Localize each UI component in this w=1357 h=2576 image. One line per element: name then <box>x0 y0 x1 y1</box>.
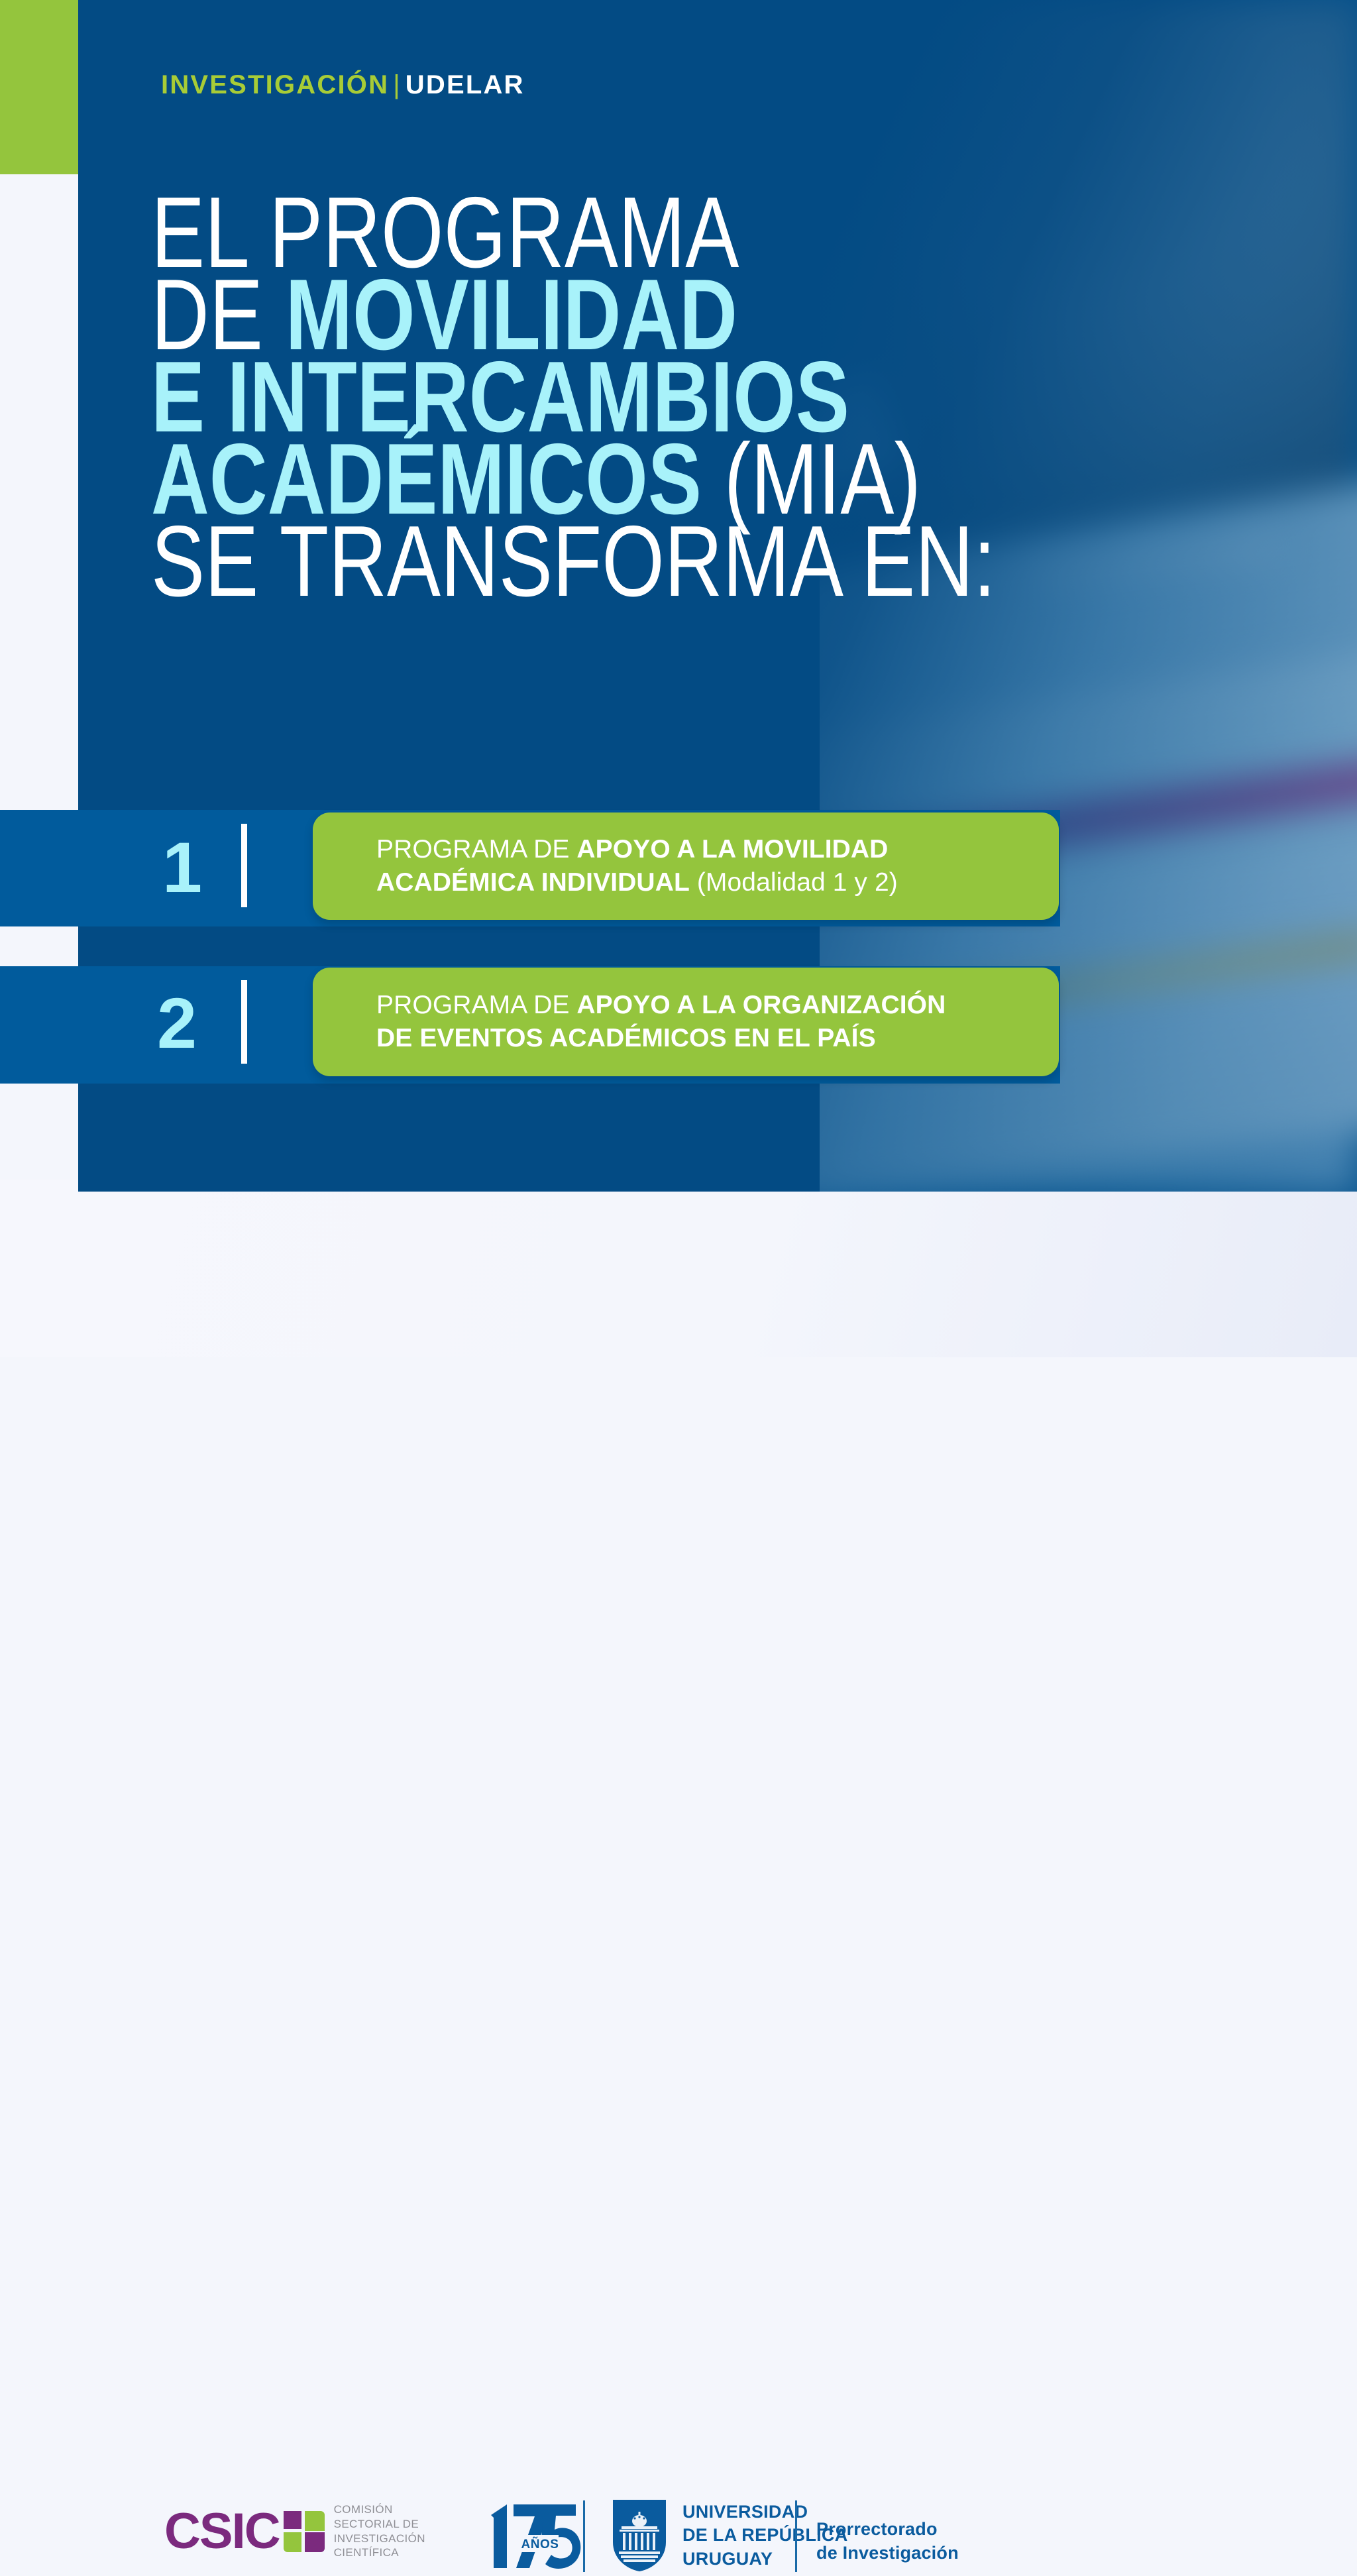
eyebrow-separator: | <box>389 70 406 99</box>
csic-subtitle-line-2: SECTORIAL DE <box>334 2518 419 2530</box>
eyebrow-secondary: UDELAR <box>406 70 525 99</box>
footer-divider-2 <box>795 2500 797 2572</box>
udelar-logo: UNIVERSIDAD DE LA REPÚBLICA URUGUAY <box>611 2498 848 2573</box>
item2-label-bold-b: DE EVENTOS ACADÉMICOS EN EL PAÍS <box>376 1024 876 1052</box>
prorrectorado-label: Prorrectorado de Investigación <box>816 2517 959 2565</box>
item1-label-paren: (Modalidad 1 y 2) <box>690 868 898 897</box>
footer-logos: CSIC COMISIÓN SECTORIAL DE INVESTIGACIÓN… <box>0 1246 1357 1345</box>
headline-line-3: E INTERCAMBIOS <box>151 351 1185 433</box>
item-divider-2 <box>241 980 247 1064</box>
item-number-1: 1 <box>162 832 202 903</box>
csic-subtitle-line-4: CIENTÍFICA <box>334 2546 399 2559</box>
item-number-2: 2 <box>157 987 197 1059</box>
headline-line-1: EL PROGRAMA <box>151 187 1185 269</box>
item-pill-1-text: PROGRAMA DE APOYO A LA MOVILIDAD ACADÉMI… <box>313 833 898 899</box>
item1-label-light: PROGRAMA DE <box>376 835 576 864</box>
item-divider-1 <box>241 824 247 907</box>
item2-label-bold-a: APOYO A LA ORGANIZACIÓN <box>576 991 946 1019</box>
prorrectorado-line-2: de Investigación <box>816 2543 959 2563</box>
headline-line5-text: SE TRANSFORMA EN: <box>151 505 996 618</box>
csic-acronym: CSIC <box>164 2506 280 2557</box>
headline-line-2: DE MOVILIDAD <box>151 269 1185 351</box>
item1-label-bold-b: ACADÉMICA INDIVIDUAL <box>376 868 690 897</box>
green-accent-block <box>0 0 78 174</box>
item-pill-2[interactable]: PROGRAMA DE APOYO A LA ORGANIZACIÓN DE E… <box>313 968 1059 1076</box>
item2-label-light: PROGRAMA DE <box>376 991 576 1019</box>
csic-squares-icon <box>284 2511 325 2552</box>
csic-subtitle-line-3: INVESTIGACIÓN <box>334 2532 425 2545</box>
anniversary-175-logo: AÑOS <box>487 2500 586 2572</box>
anniversary-175-icon: AÑOS <box>487 2500 586 2572</box>
headline-line-5: SE TRANSFORMA EN: <box>151 516 1185 598</box>
udelar-shield-icon <box>611 2498 668 2573</box>
prorrectorado-line-1: Prorrectorado <box>816 2519 938 2539</box>
poster-root: INVESTIGACIÓN|UDELAR EL PROGRAMA DE MOVI… <box>0 0 1357 1357</box>
udelar-line-3: URUGUAY <box>682 2549 773 2569</box>
csic-logo: CSIC COMISIÓN SECTORIAL DE INVESTIGACIÓN… <box>164 2502 425 2560</box>
headline-line-4: ACADÉMICOS (MIA) <box>151 433 1185 516</box>
eyebrow-primary: INVESTIGACIÓN <box>161 70 389 99</box>
item-pill-1[interactable]: PROGRAMA DE APOYO A LA MOVILIDAD ACADÉMI… <box>313 812 1059 920</box>
csic-subtitle: COMISIÓN SECTORIAL DE INVESTIGACIÓN CIEN… <box>334 2502 425 2560</box>
page-title: EL PROGRAMA DE MOVILIDAD E INTERCAMBIOS … <box>151 187 1185 598</box>
item1-label-bold-a: APOYO A LA MOVILIDAD <box>576 835 888 864</box>
eyebrow: INVESTIGACIÓN|UDELAR <box>161 72 525 98</box>
svg-text:AÑOS: AÑOS <box>521 2537 559 2551</box>
item-pill-2-text: PROGRAMA DE APOYO A LA ORGANIZACIÓN DE E… <box>313 989 946 1055</box>
footer-divider-1 <box>583 2500 585 2572</box>
udelar-line-1: UNIVERSIDAD <box>682 2502 808 2522</box>
csic-subtitle-line-1: COMISIÓN <box>334 2503 393 2516</box>
